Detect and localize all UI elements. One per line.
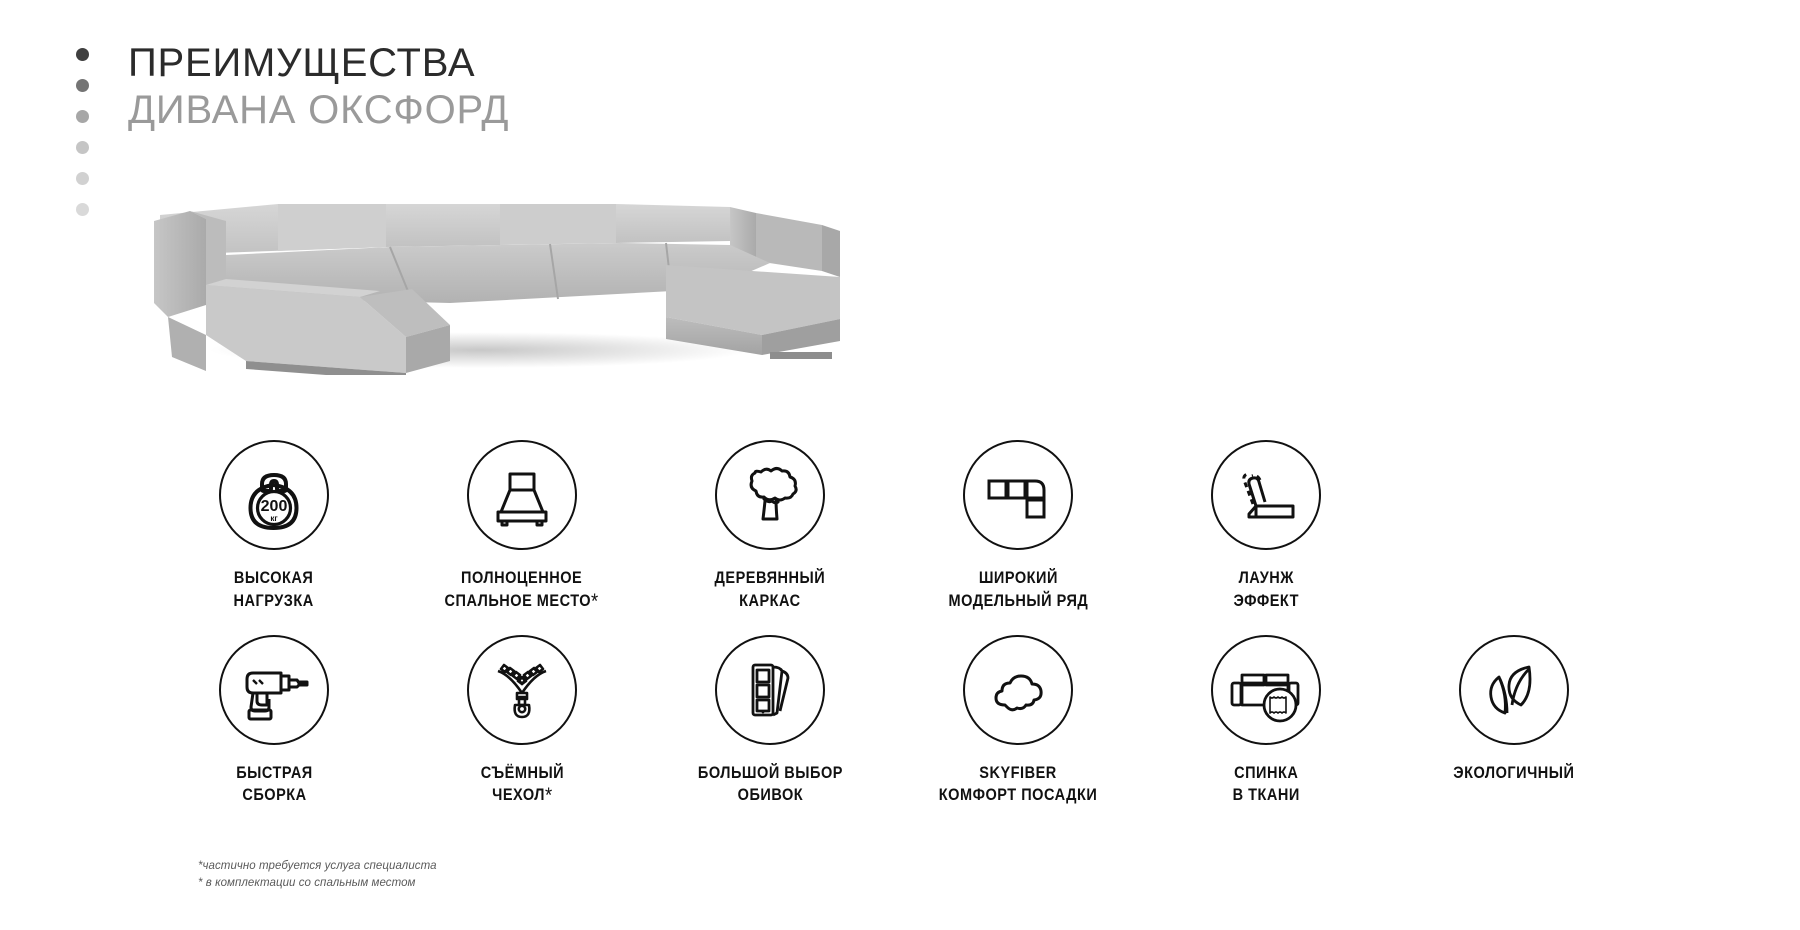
feature-removable-cover[interactable]: СЪЁМНЫЙ ЧЕХОЛ*	[398, 635, 646, 808]
feature-label-line-1: СЪЁМНЫЙ	[480, 764, 563, 782]
feature-label-line-2: В ТКАНИ	[1232, 786, 1299, 804]
feature-label-line-1: ВЫСОКАЯ	[234, 569, 313, 587]
feature-label: ЭКОЛОГИЧНЫЙ	[1453, 762, 1574, 785]
feature-label: ДЕРЕВЯННЫЙ КАРКАС	[715, 567, 826, 613]
feature-label-line-2: ЭФФЕКТ	[1233, 592, 1299, 610]
feature-label-line-2: СПАЛЬНОЕ МЕСТО	[445, 592, 592, 610]
kettlebell-weight-unit: кг	[270, 514, 278, 523]
eco-leaves-icon	[1459, 635, 1569, 745]
kettlebell-weight-value: 200	[261, 498, 288, 515]
page-title: ПРЕИМУЩЕСТВА ДИВАНА ОКСФОРД	[128, 42, 509, 132]
progress-dot-rail	[72, 48, 92, 216]
sofa-back-fabric-icon	[1211, 635, 1321, 745]
footnotes: *частично требуется услуга специалиста *…	[198, 858, 437, 891]
page-title-line-1: ПРЕИМУЩЕСТВА	[128, 42, 509, 85]
feature-eco-friendly[interactable]: ЭКОЛОГИЧНЫЙ	[1390, 635, 1638, 785]
features-row-1: 200 кг ВЫСОКАЯ НАГРУЗКА	[150, 440, 1480, 613]
feature-skyfiber-comfort[interactable]: SKYFIBER КОМФОРТ ПОСАДКИ	[894, 635, 1142, 808]
feature-label-line-2: СБОРКА	[242, 786, 306, 804]
feature-label: ВЫСОКАЯ НАГРУЗКА	[234, 567, 314, 613]
rail-dot-1[interactable]	[76, 48, 89, 61]
feature-wide-model-range[interactable]: ШИРОКИЙ МОДЕЛЬНЫЙ РЯД	[894, 440, 1142, 613]
features-grid: 200 кг ВЫСОКАЯ НАГРУЗКА	[150, 440, 1480, 807]
feature-label-line-2: ЧЕХОЛ	[492, 786, 545, 804]
feature-label-asterisk: *	[591, 590, 599, 613]
feature-label-asterisk: *	[545, 784, 553, 807]
cloud-icon	[963, 635, 1073, 745]
footnote-line-1: *частично требуется услуга специалиста	[198, 858, 437, 875]
tree-icon	[715, 440, 825, 550]
feature-label-line-1: ДЕРЕВЯННЫЙ	[715, 569, 826, 587]
rail-dot-6[interactable]	[76, 203, 89, 216]
feature-label: ЛАУНЖ ЭФФЕКТ	[1233, 567, 1299, 613]
feature-fast-assembly[interactable]: БЫСТРАЯ СБОРКА	[150, 635, 398, 808]
feature-label: СЪЁМНЫЙ ЧЕХОЛ*	[480, 762, 563, 808]
feature-label-line-1: ШИРОКИЙ	[978, 569, 1057, 587]
bed-icon	[467, 440, 577, 550]
drill-icon	[219, 635, 329, 745]
rail-dot-2[interactable]	[76, 79, 89, 92]
feature-label: ШИРОКИЙ МОДЕЛЬНЫЙ РЯД	[948, 567, 1088, 613]
zipper-icon	[467, 635, 577, 745]
feature-label: БОЛЬШОЙ ВЫБОР ОБИВОК	[697, 762, 842, 808]
fabric-swatches-icon	[715, 635, 825, 745]
feature-label-line-1: БЫСТРАЯ	[236, 764, 313, 782]
feature-label: СПИНКА В ТКАНИ	[1232, 762, 1299, 808]
footnote-line-2: * в комплектации со спальным местом	[198, 875, 437, 892]
feature-label: SKYFIBER КОМФОРТ ПОСАДКИ	[939, 762, 1097, 808]
feature-label: БЫСТРАЯ СБОРКА	[236, 762, 313, 808]
feature-high-load[interactable]: 200 кг ВЫСОКАЯ НАГРУЗКА	[150, 440, 398, 613]
feature-label-line-1: ЛАУНЖ	[1238, 569, 1293, 587]
feature-label-line-1: ПОЛНОЦЕННОЕ	[461, 569, 582, 587]
feature-wooden-frame[interactable]: ДЕРЕВЯННЫЙ КАРКАС	[646, 440, 894, 613]
feature-label-line-2: КАРКАС	[739, 592, 801, 610]
feature-fabric-back[interactable]: СПИНКА В ТКАНИ	[1142, 635, 1390, 808]
feature-label-line-1: БОЛЬШОЙ ВЫБОР	[697, 764, 842, 782]
feature-label-line-2: ОБИВОК	[737, 786, 803, 804]
feature-full-sleeping-place[interactable]: ПОЛНОЦЕННОЕ СПАЛЬНОЕ МЕСТО*	[398, 440, 646, 613]
feature-label-line-1: SKYFIBER	[979, 764, 1056, 782]
rail-dot-3[interactable]	[76, 110, 89, 123]
rail-dot-4[interactable]	[76, 141, 89, 154]
feature-label-line-2: КОМФОРТ ПОСАДКИ	[939, 786, 1097, 804]
rail-dot-5[interactable]	[76, 172, 89, 185]
modular-blocks-icon	[963, 440, 1073, 550]
feature-lounge-effect[interactable]: ЛАУНЖ ЭФФЕКТ	[1142, 440, 1390, 613]
feature-label-line-1: СПИНКА	[1234, 764, 1298, 782]
sofa-hero-image	[150, 185, 850, 375]
feature-label: ПОЛНОЦЕННОЕ СПАЛЬНОЕ МЕСТО*	[445, 567, 599, 613]
kettlebell-200kg-icon: 200 кг	[219, 440, 329, 550]
feature-label-line-2: НАГРУЗКА	[234, 592, 314, 610]
reclining-back-icon	[1211, 440, 1321, 550]
feature-label-line-1: ЭКОЛОГИЧНЫЙ	[1453, 764, 1574, 782]
feature-large-upholstery-choice[interactable]: БОЛЬШОЙ ВЫБОР ОБИВОК	[646, 635, 894, 808]
page-title-line-2: ДИВАНА ОКСФОРД	[128, 89, 509, 132]
feature-label-line-2: МОДЕЛЬНЫЙ РЯД	[948, 592, 1088, 610]
features-row-2: БЫСТРАЯ СБОРКА	[150, 635, 1480, 808]
